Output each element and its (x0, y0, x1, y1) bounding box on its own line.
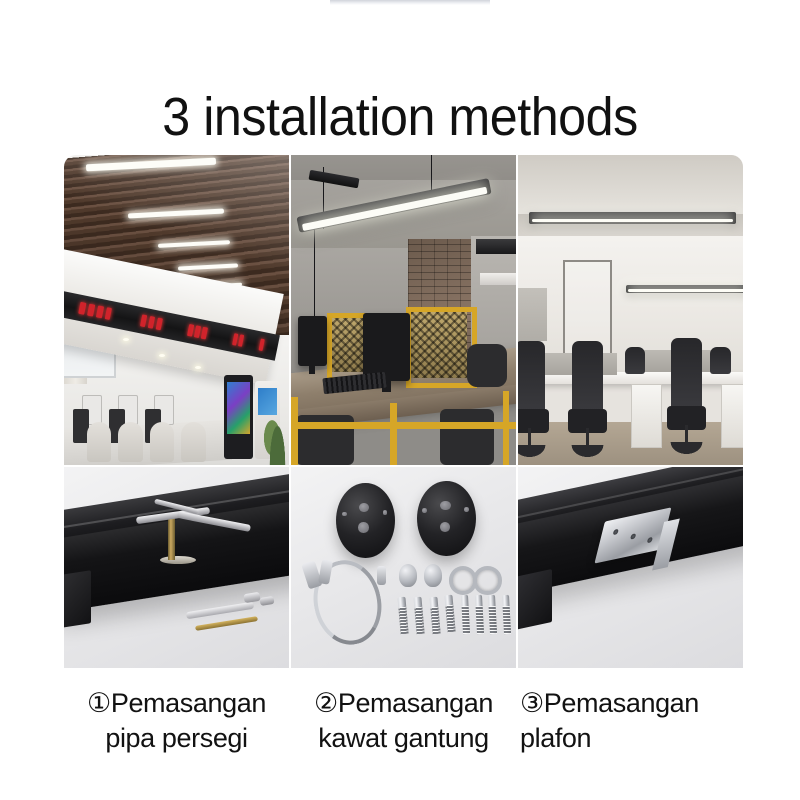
method-3-scene-image[interactable] (518, 155, 743, 465)
wood-screw-3 (488, 595, 497, 634)
caption-method-2: ②Pemasangan kawat gantung (291, 686, 516, 778)
method-2-scene-image[interactable] (291, 155, 516, 465)
ceiling-mounted-linear-light-back (626, 285, 743, 292)
caption-2-line-1: ②Pemasangan (291, 686, 516, 721)
ceiling-duct (476, 239, 517, 255)
wood-screw-2 (474, 595, 483, 634)
method-2-product-image[interactable] (291, 467, 516, 668)
threaded-rod (168, 516, 175, 561)
background-shelf (480, 273, 516, 285)
self-service-kiosk (224, 375, 253, 459)
caption-method-3: ③Pemasangan plafon (518, 686, 743, 778)
monitor (363, 313, 410, 381)
chrome-nut-1 (399, 564, 417, 586)
wood-screw-4 (501, 595, 510, 634)
caption-1-line-1: ①Pemasangan (64, 686, 289, 721)
yellow-desk-leg (390, 403, 397, 465)
lobby-chair (150, 422, 175, 462)
lobby-chair (181, 422, 206, 462)
office-chair (568, 341, 609, 459)
office-chair-far (622, 347, 649, 390)
office-chair (518, 341, 550, 459)
monitor (298, 316, 327, 366)
chrome-nut-2 (424, 564, 442, 586)
wall-anchor-2 (413, 597, 424, 634)
pedestal-cabinet (631, 384, 662, 448)
wood-screw-1 (461, 595, 470, 634)
steel-suspension-cable-loop (305, 554, 388, 651)
caption-method-1: ①Pemasangan pipa persegi (64, 686, 289, 778)
office-chair (667, 338, 708, 456)
installation-methods-grid (64, 155, 743, 668)
spare-bracket-bar (185, 602, 253, 619)
ceiling-mounted-linear-light-front (529, 212, 736, 223)
caption-2-line-2: kawat gantung (291, 721, 516, 756)
fixture-end-cap (64, 570, 91, 628)
method-1-product-image[interactable] (64, 467, 289, 668)
top-edge-band (330, 0, 490, 5)
yellow-divider-frame (406, 307, 477, 388)
wall-anchor-1 (397, 597, 408, 634)
wall-anchor-3 (429, 597, 440, 634)
fixture-end-cap (518, 568, 552, 629)
cable-end-fitting (377, 566, 386, 584)
method-captions: ①Pemasangan pipa persegi ②Pemasangan kaw… (64, 686, 743, 778)
office-chair (440, 409, 494, 465)
yellow-desk-rail (291, 422, 516, 430)
caption-1-line-2: pipa persegi (64, 721, 289, 756)
pedestal-cabinet (721, 384, 744, 448)
spare-nut (243, 592, 260, 603)
yellow-desk-leg (291, 397, 298, 465)
wall-anchor-4 (445, 595, 456, 632)
spare-washer (259, 596, 274, 606)
spare-threaded-rod (194, 616, 257, 631)
caption-3-line-2: plafon (520, 721, 743, 756)
lobby-chair (118, 422, 143, 462)
product-infographic-page: 3 installation methods (0, 0, 800, 800)
method-1-scene-image[interactable] (64, 155, 289, 465)
ceiling-canopy-left (336, 483, 395, 558)
page-title: 3 installation methods (28, 88, 772, 146)
lock-ring-2 (473, 566, 501, 594)
lobby-chair (87, 422, 112, 462)
method-3-product-image[interactable] (518, 467, 743, 668)
office-chair (467, 344, 508, 387)
ceiling-canopy-right (417, 481, 476, 556)
potted-plant (264, 397, 289, 465)
caption-3-line-1: ③Pemasangan (520, 686, 743, 721)
acoustic-wall-panel (518, 288, 547, 341)
office-chair-far (707, 347, 734, 390)
